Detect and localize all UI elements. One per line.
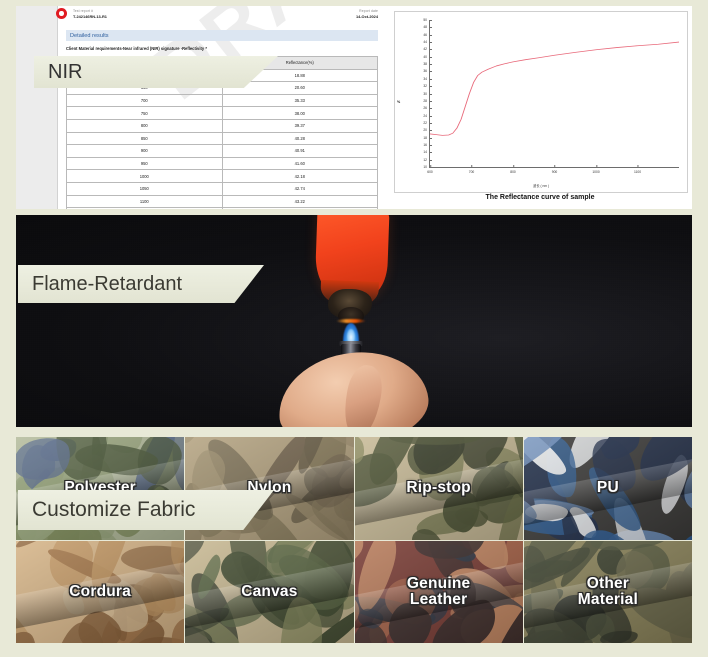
material-requirements-line: Client Material requirements-Near infrar… bbox=[66, 46, 380, 51]
chart-y-tick: 20 bbox=[423, 128, 430, 132]
chart-y-tick: 30 bbox=[423, 92, 430, 96]
reflectance-curve bbox=[430, 20, 679, 167]
table-row: 70035.33 bbox=[67, 94, 378, 107]
fabric-label: PU bbox=[597, 480, 619, 496]
cell-reflectance: 39.37 bbox=[222, 119, 378, 132]
chart-y-tick: 46 bbox=[423, 33, 430, 37]
cell-reflectance: 42.18 bbox=[222, 170, 378, 183]
cell-reflectance: 40.91 bbox=[222, 145, 378, 158]
detailed-results-heading: Detailed results bbox=[66, 30, 378, 41]
cell-reflectance: 43.53 bbox=[222, 208, 378, 209]
cell-wavelength: 1150 bbox=[67, 208, 223, 209]
table-row: 100042.18 bbox=[67, 170, 378, 183]
nir-section: DRAFT Test report # T-242146RN-13-R1 Rep… bbox=[16, 6, 692, 209]
chart-x-tick: 800 bbox=[510, 167, 516, 174]
test-report-document: DRAFT Test report # T-242146RN-13-R1 Rep… bbox=[16, 6, 386, 209]
cell-reflectance: 38.00 bbox=[222, 107, 378, 120]
cell-wavelength: 700 bbox=[67, 94, 223, 107]
fabric-label: Cordura bbox=[69, 584, 131, 600]
nir-banner: NIR bbox=[34, 56, 278, 88]
chart-x-axis-label: 波长 ( nm ) bbox=[533, 183, 549, 188]
table-row: 110043.22 bbox=[67, 195, 378, 208]
fabric-label: Rip-stop bbox=[406, 480, 470, 496]
chart-y-tick: 50 bbox=[423, 18, 430, 22]
chart-x-tick: 900 bbox=[552, 167, 558, 174]
report-logo-icon bbox=[56, 8, 67, 19]
fabric-label: Canvas bbox=[241, 584, 297, 600]
cell-wavelength: 900 bbox=[67, 145, 223, 158]
cell-reflectance: 42.74 bbox=[222, 182, 378, 195]
fabric-cell[interactable]: Cordura bbox=[16, 541, 184, 644]
cell-wavelength: 1050 bbox=[67, 182, 223, 195]
reflectance-table-body: 60018.8865020.6070035.3375038.0080039.37… bbox=[67, 69, 378, 209]
report-date-value: 14-Oct-2024 bbox=[356, 14, 378, 19]
table-row: 75038.00 bbox=[67, 107, 378, 120]
chart-y-tick: 28 bbox=[423, 99, 430, 103]
flame-retardant-banner-label: Flame-Retardant bbox=[32, 273, 182, 296]
chart-y-tick: 14 bbox=[423, 150, 430, 154]
chart-y-tick: 48 bbox=[423, 25, 430, 29]
cell-reflectance: 43.22 bbox=[222, 195, 378, 208]
fabric-cell[interactable]: GenuineLeather bbox=[355, 541, 523, 644]
chart-y-axis-label: % bbox=[397, 100, 400, 104]
fabric-label: OtherMaterial bbox=[578, 576, 638, 608]
chart-x-tick: 1100 bbox=[634, 167, 641, 174]
fabric-cell[interactable]: OtherMaterial bbox=[524, 541, 692, 644]
test-report-value: T-242146RN-13-R1 bbox=[73, 14, 107, 19]
table-row: 95041.60 bbox=[67, 157, 378, 170]
flame-retardant-section bbox=[16, 215, 692, 427]
chart-y-tick: 40 bbox=[423, 55, 430, 59]
customize-fabric-grid: PolyesterNylonRip-stopPUCorduraCanvasGen… bbox=[16, 437, 692, 643]
cell-reflectance: 40.28 bbox=[222, 132, 378, 145]
cell-wavelength: 1000 bbox=[67, 170, 223, 183]
report-date-label: Report date bbox=[359, 9, 378, 13]
chart-caption: The Reflectance curve of sample bbox=[388, 194, 692, 201]
fabric-label: GenuineLeather bbox=[407, 576, 470, 608]
chart-y-tick: 22 bbox=[423, 121, 430, 125]
chart-plot-area: 1012141618202224262830323436384042444648… bbox=[429, 20, 679, 168]
detailed-results-text: Detailed results bbox=[70, 33, 109, 39]
chart-y-tick: 24 bbox=[423, 114, 430, 118]
chart-y-tick: 42 bbox=[423, 47, 430, 51]
table-row: 90040.91 bbox=[67, 145, 378, 158]
chart-y-tick: 38 bbox=[423, 62, 430, 66]
cell-wavelength: 800 bbox=[67, 119, 223, 132]
chart-y-tick: 26 bbox=[423, 106, 430, 110]
table-row: 105042.74 bbox=[67, 182, 378, 195]
fabric-cell[interactable]: Rip-stop bbox=[355, 437, 523, 540]
cell-reflectance: 41.60 bbox=[222, 157, 378, 170]
chart-x-tick: 600 bbox=[427, 167, 433, 174]
chart-x-tick: 700 bbox=[469, 167, 475, 174]
table-row: 115043.53 bbox=[67, 208, 378, 209]
product-detail-page: DRAFT Test report # T-242146RN-13-R1 Rep… bbox=[0, 0, 708, 657]
chart-y-tick: 34 bbox=[423, 77, 430, 81]
cell-wavelength: 850 bbox=[67, 132, 223, 145]
cell-reflectance: 35.33 bbox=[222, 94, 378, 107]
flame-retardant-banner: Flame-Retardant bbox=[18, 265, 264, 303]
chart-y-tick: 12 bbox=[423, 158, 430, 162]
nir-banner-label: NIR bbox=[48, 61, 82, 84]
chart-y-tick: 16 bbox=[423, 143, 430, 147]
cell-wavelength: 950 bbox=[67, 157, 223, 170]
chart-frame: % 10121416182022242628303234363840424446… bbox=[394, 11, 688, 193]
table-row: 85040.28 bbox=[67, 132, 378, 145]
cell-wavelength: 1100 bbox=[67, 195, 223, 208]
chart-x-tick: 1000 bbox=[592, 167, 599, 174]
table-row: 80039.37 bbox=[67, 119, 378, 132]
test-report-label: Test report # bbox=[73, 9, 93, 13]
fabric-cell[interactable]: PU bbox=[524, 437, 692, 540]
reflectance-chart: % 10121416182022242628303234363840424446… bbox=[388, 6, 692, 209]
customize-fabric-banner: Customize Fabric bbox=[18, 490, 274, 530]
chart-y-tick: 44 bbox=[423, 40, 430, 44]
fabric-cell[interactable]: Canvas bbox=[185, 541, 353, 644]
chart-y-tick: 36 bbox=[423, 69, 430, 73]
chart-y-tick: 32 bbox=[423, 84, 430, 88]
document-left-margin bbox=[16, 6, 58, 209]
orange-fabric-sample bbox=[314, 215, 389, 298]
customize-fabric-banner-label: Customize Fabric bbox=[32, 498, 195, 522]
chart-y-tick: 18 bbox=[423, 136, 430, 140]
cell-wavelength: 750 bbox=[67, 107, 223, 120]
